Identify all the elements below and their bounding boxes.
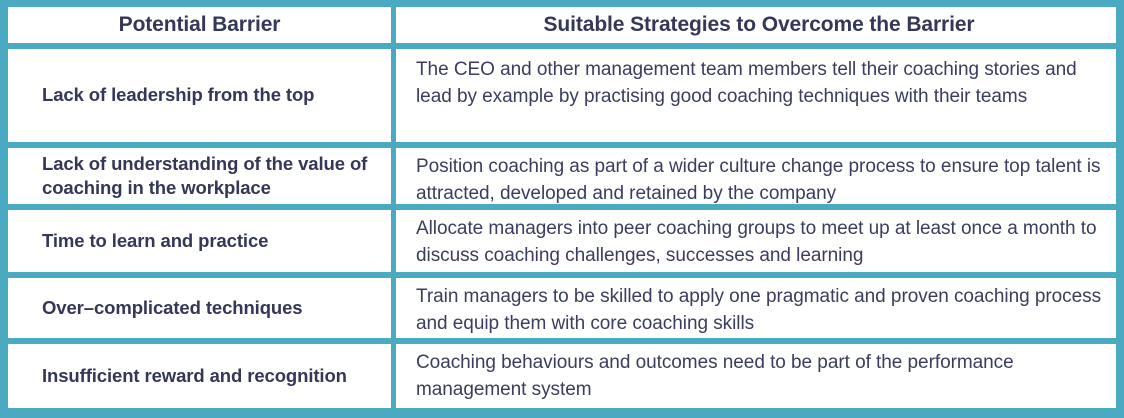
barrier-label: Time to learn and practice: [22, 229, 377, 253]
table-header-row: Potential Barrier Suitable Strategies to…: [8, 7, 1116, 43]
table-row: Lack of understanding of the value of co…: [8, 148, 1116, 204]
table-row: Time to learn and practice Allocate mana…: [8, 210, 1116, 272]
cell-barrier: Lack of understanding of the value of co…: [8, 148, 391, 204]
table-row: Lack of leadership from the top The CEO …: [8, 49, 1116, 142]
barrier-label: Insufficient reward and recognition: [22, 364, 377, 388]
cell-strategy: Train managers to be skilled to apply on…: [396, 278, 1116, 338]
column-header-barrier-label: Potential Barrier: [119, 13, 281, 36]
cell-strategy: The CEO and other management team member…: [396, 49, 1116, 142]
cell-barrier: Insufficient reward and recognition: [8, 344, 391, 408]
barriers-strategies-table: Potential Barrier Suitable Strategies to…: [0, 0, 1124, 418]
table-row: Insufficient reward and recognition Coac…: [8, 344, 1116, 408]
strategy-label: Allocate managers into peer coaching gro…: [416, 210, 1102, 270]
barrier-label: Lack of understanding of the value of co…: [22, 152, 377, 201]
strategy-label: Position coaching as part of a wider cul…: [416, 148, 1102, 204]
strategy-label: The CEO and other management team member…: [416, 49, 1102, 111]
barrier-label: Lack of leadership from the top: [22, 83, 377, 107]
cell-strategy: Coaching behaviours and outcomes need to…: [396, 344, 1116, 408]
table-row: Over–complicated techniques Train manage…: [8, 278, 1116, 338]
cell-barrier: Lack of leadership from the top: [8, 49, 391, 142]
header-cell-suitable-strategies: Suitable Strategies to Overcome the Barr…: [396, 7, 1116, 43]
cell-strategy: Allocate managers into peer coaching gro…: [396, 210, 1116, 272]
cell-barrier: Over–complicated techniques: [8, 278, 391, 338]
cell-barrier: Time to learn and practice: [8, 210, 391, 272]
header-cell-potential-barrier: Potential Barrier: [8, 7, 391, 43]
cell-strategy: Position coaching as part of a wider cul…: [396, 148, 1116, 204]
strategy-label: Train managers to be skilled to apply on…: [416, 278, 1102, 338]
strategy-label: Coaching behaviours and outcomes need to…: [416, 344, 1102, 404]
barrier-label: Over–complicated techniques: [22, 296, 377, 320]
column-header-strategy-label: Suitable Strategies to Overcome the Barr…: [543, 13, 974, 36]
